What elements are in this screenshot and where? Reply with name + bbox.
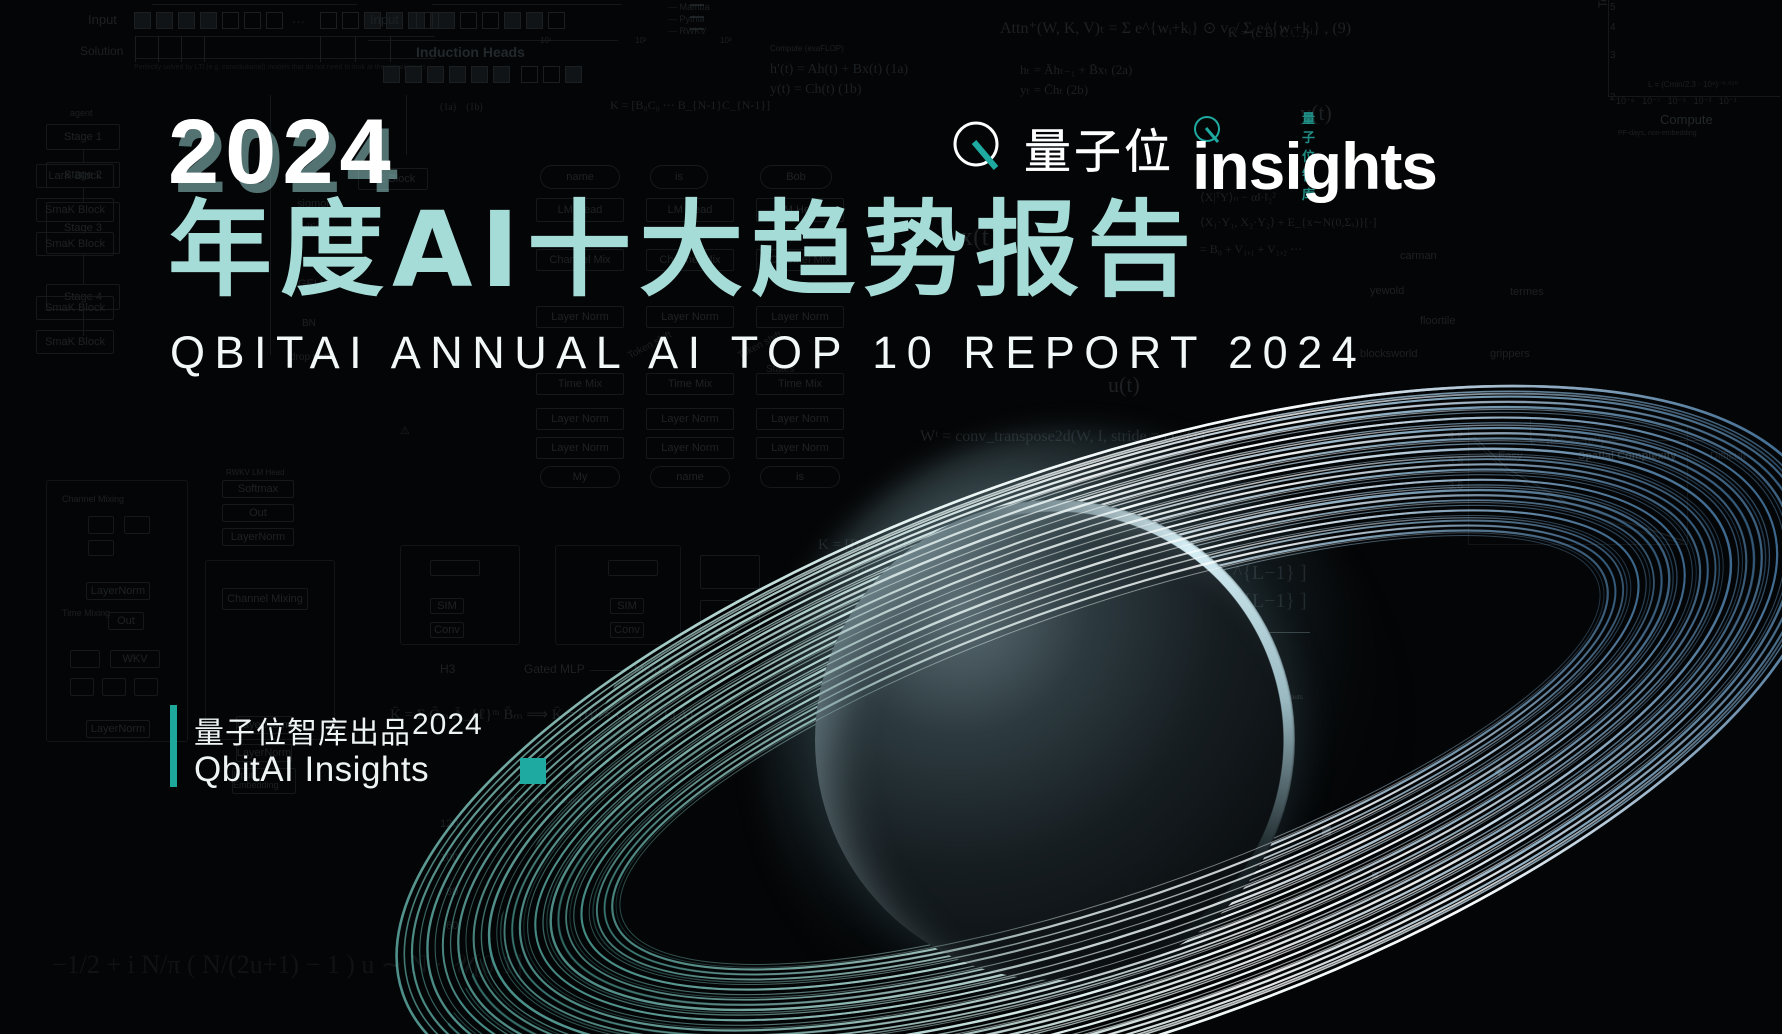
bg-square <box>178 12 195 29</box>
bg-box-layernorm: LayerNorm <box>222 528 294 546</box>
bg-tick <box>204 36 205 62</box>
credit-accent-bar <box>170 705 177 787</box>
bg-box-stage4: Stage 4 <box>46 284 120 310</box>
bg-label-input-2: Input <box>370 12 399 27</box>
bg-tick-label: 4 <box>1610 22 1616 33</box>
bg-eq-disc-a: hₜ = Āhₜ₋₁ + B̄xₜ (2a) <box>1020 62 1132 78</box>
bg-box-name: name <box>540 165 620 189</box>
bg-axis-label: Compute (exaFLOP) <box>770 44 844 53</box>
bg-square <box>543 66 560 83</box>
bg-box <box>88 516 114 534</box>
brand-logo: 量子位 <box>950 113 1174 182</box>
bg-square <box>521 66 538 83</box>
bg-square <box>386 12 403 29</box>
bg-legend-series-1: — Mamba <box>668 2 710 12</box>
bg-square <box>222 12 239 29</box>
bg-eq-misc3: K = [B₀C₀ ⋯ B_{N-1}C_{N-1}] <box>610 98 770 113</box>
bg-box <box>134 678 158 696</box>
bg-axis-label-test-loss: Test Loss <box>1596 0 1610 8</box>
bg-label-input: Input <box>88 12 117 27</box>
bg-square <box>565 66 582 83</box>
bg-panel <box>46 480 188 742</box>
bg-box-softmax: Softmax <box>222 480 294 498</box>
bg-square <box>405 66 422 83</box>
bg-line <box>135 58 435 59</box>
bg-ellipsis: ··· <box>292 14 305 29</box>
bg-tick <box>158 36 159 62</box>
bg-square <box>244 12 261 29</box>
bg-arrow-line <box>152 4 357 5</box>
bg-tick-label: 5 <box>1610 2 1616 13</box>
bg-tick-label: 10³ <box>720 36 732 45</box>
bg-legend-series-3: — RWKV <box>668 26 706 36</box>
insights-wordmark: insights <box>1192 128 1437 204</box>
bg-tick <box>355 36 356 62</box>
bg-square <box>383 66 400 83</box>
bg-box-out: Out <box>222 504 294 522</box>
bg-label-time-mixing: Time Mixing <box>62 608 110 618</box>
bg-eq-disc-b: yₜ = C̄hₜ (2b) <box>1020 82 1088 98</box>
bg-square <box>449 66 466 83</box>
bg-box-smak: SmaK Block <box>36 232 114 256</box>
bg-tick <box>320 36 321 62</box>
bg-warning-icon: ⚠ <box>400 424 410 437</box>
bg-eq-misc: (1a) (1b) <box>440 102 483 113</box>
credit-line-cn: 量子位智库出品 <box>194 708 411 752</box>
bg-label-solution: Solution <box>80 44 123 58</box>
bg-box <box>102 678 126 696</box>
bg-square <box>482 12 499 29</box>
bg-tick <box>390 36 391 62</box>
bg-box <box>88 540 114 556</box>
bg-tick-label: 10¹ <box>540 36 552 45</box>
brand-name-cn: 量子位 <box>1024 113 1174 182</box>
bg-box-stage3: Stage 3 <box>46 202 120 254</box>
bg-square <box>548 12 565 29</box>
bg-square <box>430 12 447 29</box>
bg-caption-perfectly-solved: Perfectly solved by LTI (e.g. convolutio… <box>134 64 426 71</box>
bg-square <box>134 12 151 29</box>
bg-box-smak: SmaK Block <box>36 296 114 320</box>
bg-tick-label: 10² <box>635 36 647 45</box>
bg-eq-attn: Attn⁺(W, K, V)ₜ = Σ e^{wᵢ+kᵢ} ⊙ vᵢ / Σ e… <box>1000 18 1351 38</box>
bg-box-bob: Bob <box>760 165 832 189</box>
bg-eq-ssm-b: y(t) = Ch(t) (1b) <box>770 82 862 98</box>
bg-tick-label: 3 <box>1610 50 1616 61</box>
bg-square <box>438 12 455 29</box>
bg-legend-icon <box>690 0 750 34</box>
bg-line <box>83 254 84 284</box>
credit-line-en: QbitAI Insights <box>194 750 429 790</box>
bg-square <box>266 12 283 29</box>
bg-square <box>364 12 381 29</box>
bg-label-channel-mixing: Channel Mixing <box>62 494 124 504</box>
bg-box-stage2: Stage 2 <box>46 162 120 188</box>
bg-box-layernorm: LayerNorm <box>86 720 150 738</box>
bg-label-induction-heads: Induction Heads <box>416 44 525 60</box>
bg-box-out: Out <box>108 612 144 630</box>
bg-square <box>460 12 477 29</box>
bg-square <box>320 12 337 29</box>
bg-eq-misc2: K̄ = (c B̄, C̄ …) <box>1228 25 1309 41</box>
bg-square <box>156 12 173 29</box>
bg-box <box>70 650 100 668</box>
bg-legend-series-2: — Pythia <box>668 14 705 24</box>
bg-square <box>526 12 543 29</box>
bg-box-smak: SmaK Block <box>36 198 114 222</box>
poster-canvas: Input ··· Solution Perfectly solved by L… <box>0 0 1782 1034</box>
bg-label-agent: agent <box>70 108 93 118</box>
bg-line <box>83 310 84 336</box>
credit-accent-square <box>520 758 546 784</box>
bg-line <box>406 95 407 155</box>
bg-tick <box>181 36 182 62</box>
bg-box-lark: LarK Block <box>36 164 114 188</box>
bg-square <box>493 66 510 83</box>
bg-axis <box>1608 0 1609 96</box>
bg-box-smak: SmaK Block <box>36 330 114 354</box>
bg-square <box>504 12 521 29</box>
bg-line <box>135 36 435 37</box>
bg-box-layernorm: LayerNorm <box>86 582 150 600</box>
bg-eq-ssm-a: h′(t) = Ah(t) + Bx(t) (1a) <box>770 62 908 78</box>
bg-square <box>416 12 433 29</box>
bg-box-is: is <box>650 165 708 189</box>
bg-box-stage1: Stage 1 <box>46 124 120 150</box>
bg-square <box>408 12 425 29</box>
bg-box <box>124 516 150 534</box>
page-subtitle-en: QBITAI ANNUAL AI TOP 10 REPORT 2024 <box>170 327 1366 379</box>
bg-line <box>83 188 84 202</box>
bg-tick <box>135 36 136 62</box>
qbitai-q-icon <box>950 120 1006 176</box>
bg-square <box>471 66 488 83</box>
bg-box-wkv: WKV <box>110 650 160 668</box>
bg-box <box>70 678 94 696</box>
bg-line <box>368 40 618 41</box>
page-title-cn: 年度AI十大趋势报告 <box>168 196 1199 305</box>
bg-line <box>83 150 84 162</box>
bg-box-layer-norm: Layer Norm <box>536 408 624 430</box>
bg-line <box>432 4 622 5</box>
bg-square <box>427 66 444 83</box>
bg-square <box>342 12 359 29</box>
bg-label-rwkv-head: RWKV LM Head <box>226 468 285 477</box>
bg-square <box>200 12 217 29</box>
credit-year: 2024 <box>412 708 483 742</box>
